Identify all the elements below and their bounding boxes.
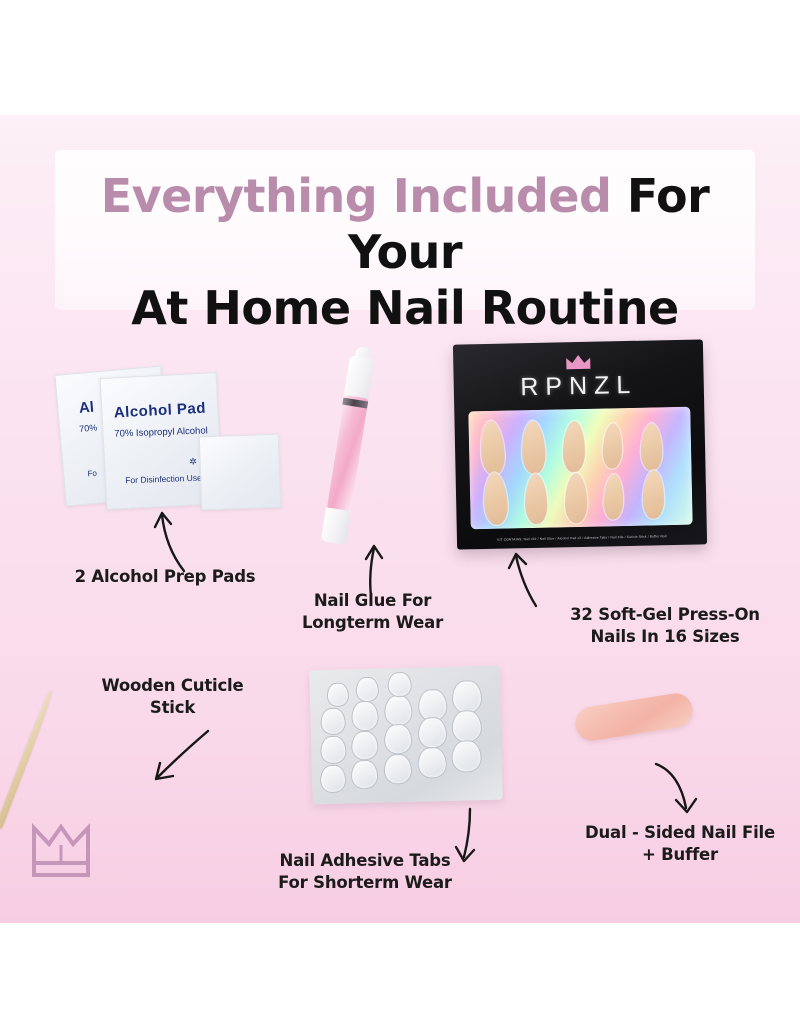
arrow-to-alcohol-pads — [140, 505, 230, 575]
nail-tip — [602, 423, 622, 469]
adhesive-tab — [355, 677, 379, 703]
adhesive-tab — [327, 682, 350, 707]
box-body: RPNZL KIT CONTAINS: Nail x32 / Nail Glue… — [453, 339, 707, 549]
adhesive-tab — [384, 724, 413, 755]
brand-crown-icon — [30, 823, 92, 879]
arrow-to-nail-file — [650, 758, 712, 822]
tab-sheet-body — [309, 666, 502, 805]
nail-tip — [563, 421, 586, 472]
adhesive-tab — [418, 717, 448, 749]
arrow-to-press-on-nails — [500, 548, 570, 610]
adhesive-tab — [384, 695, 413, 727]
adhesive-tab — [320, 765, 347, 794]
infographic-canvas: Everything Included For Your At Home Nai… — [0, 0, 800, 1034]
crown-icon — [565, 354, 591, 371]
adhesive-tab — [417, 747, 447, 779]
adhesive-tab — [384, 754, 413, 785]
caption-alcohol-pads: 2 Alcohol Prep Pads — [25, 566, 305, 588]
caption-cuticle-stick: Wooden Cuticle Stick — [60, 675, 285, 719]
arrow-to-cuticle-stick — [140, 725, 215, 790]
page-title: Everything Included For Your At Home Nai… — [55, 168, 755, 336]
nail-tip — [525, 474, 548, 524]
adhesive-tab — [320, 736, 347, 765]
adhesive-tab — [351, 701, 379, 732]
nail-tip — [521, 421, 546, 475]
glue-body — [326, 395, 368, 517]
nail-adhesive-tab-sheet — [309, 666, 502, 805]
adhesive-tab — [452, 680, 483, 714]
alcohol-pad-small — [199, 434, 282, 511]
headline-accent-text: Everything Included — [101, 169, 612, 223]
nail-tip — [603, 474, 623, 520]
nail-tip — [641, 423, 662, 470]
box-fine-print: KIT CONTAINS: Nail x32 / Nail Glue / Alc… — [473, 534, 691, 543]
adhesive-tab — [320, 708, 346, 736]
nail-tip — [565, 473, 587, 523]
adhesive-tab — [451, 740, 482, 773]
nail-tip — [483, 472, 509, 525]
headline-line-2: At Home Nail Routine — [55, 280, 755, 336]
caption-nail-glue: Nail Glue For Longterm Wear — [255, 590, 490, 634]
adhesive-tab — [351, 760, 379, 790]
press-on-nails-box: RPNZL KIT CONTAINS: Nail x32 / Nail Glue… — [453, 339, 707, 549]
caption-press-on-nails: 32 Soft-Gel Press-On Nails In 16 Sizes — [540, 604, 790, 648]
nail-tray — [468, 407, 692, 530]
nail-tip — [479, 420, 506, 476]
adhesive-tab — [451, 710, 482, 743]
caption-adhesive-tabs: Nail Adhesive Tabs For Shorterm Wear — [235, 850, 495, 894]
alcohol-pad-title: Alcohol Pad — [102, 399, 218, 422]
adhesive-tab — [351, 731, 379, 761]
box-brand-logo: RPNZL — [454, 369, 705, 403]
nail-tip — [643, 470, 665, 518]
adhesive-tab — [387, 672, 412, 698]
caption-nail-file: Dual - Sided Nail File + Buffer — [560, 822, 800, 866]
